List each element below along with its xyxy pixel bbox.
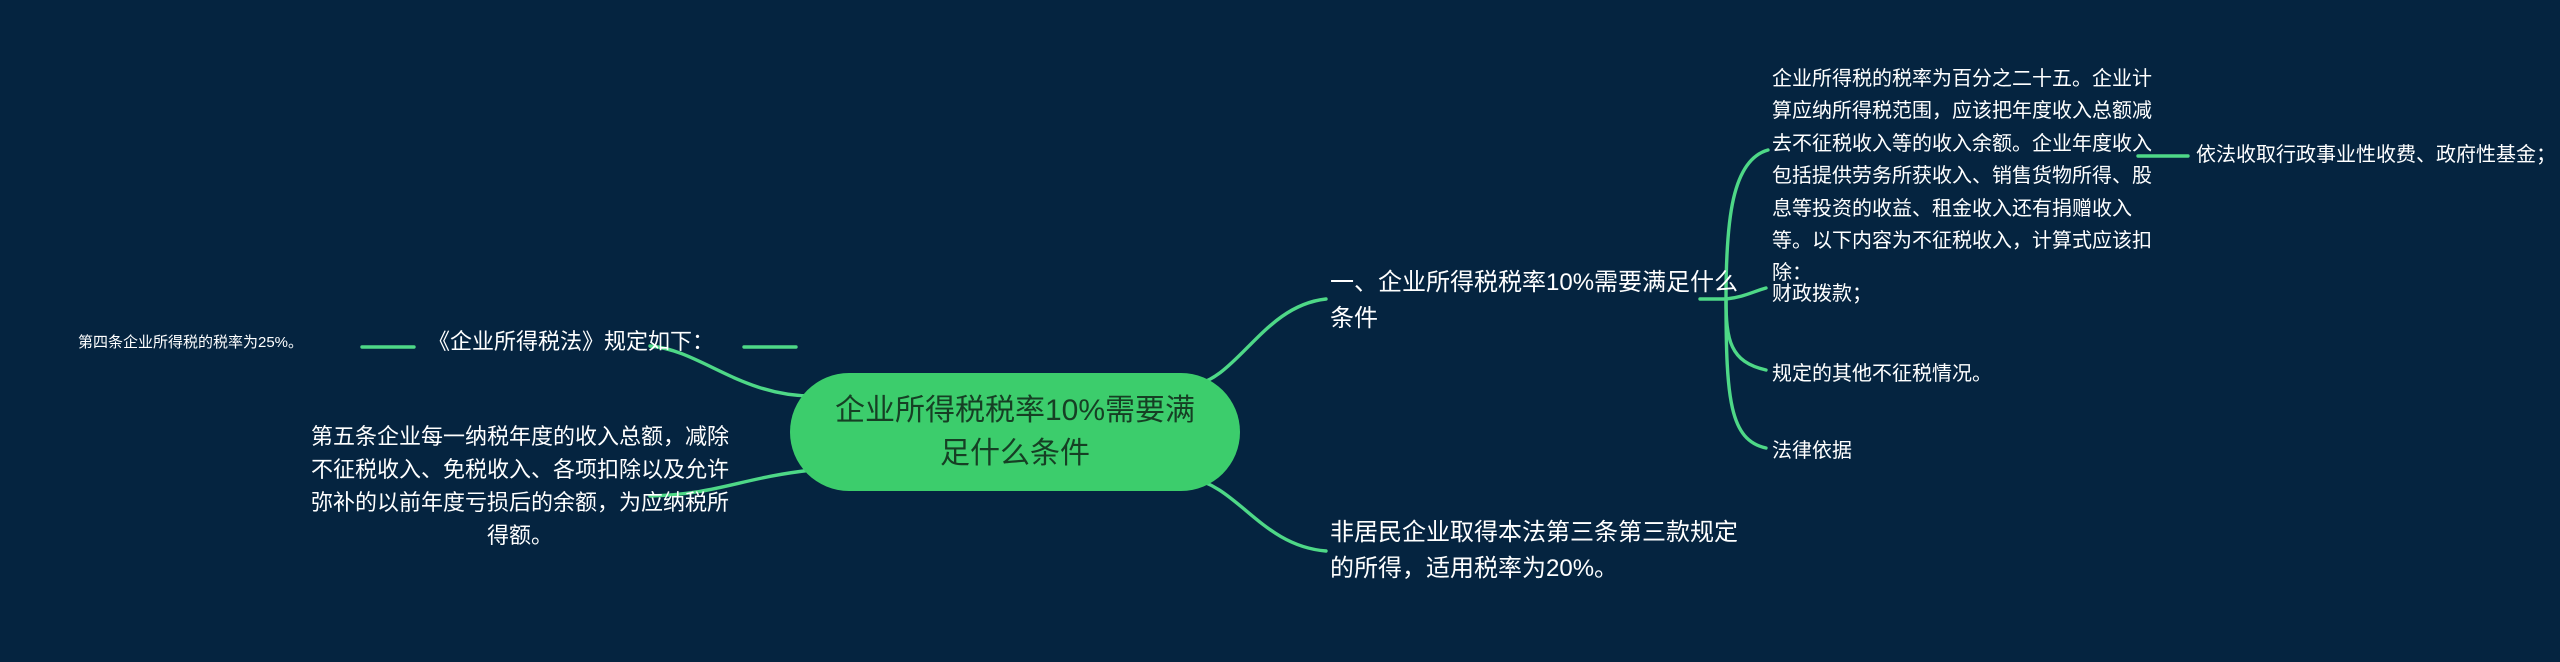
root-node[interactable]: 企业所得税税率10%需要满足什么条件 <box>790 373 1240 491</box>
connector-layer <box>0 0 2560 662</box>
left-level1-node[interactable]: 《企业所得税法》规定如下： <box>428 326 758 358</box>
link-root-right-branch2 <box>1190 478 1326 551</box>
right-branch1-node[interactable]: 一、企业所得税税率10%需要满足什么条件 <box>1330 265 1750 337</box>
link-root-right-branch1 <box>1190 299 1326 386</box>
right-branch1-child-legal-basis[interactable]: 法律依据 <box>1772 437 2072 466</box>
mindmap-canvas: 第四条企业所得税的税率为25%。 《企业所得税法》规定如下： 第五条企业每一纳税… <box>0 0 2560 662</box>
right-branch2-node[interactable]: 非居民企业取得本法第三条第三款规定的所得，适用税率为20%。 <box>1330 515 1750 587</box>
root-node-label: 企业所得税税率10%需要满足什么条件 <box>824 389 1206 476</box>
left-far-label[interactable]: 第四条企业所得税的税率为25%。 <box>78 332 378 354</box>
right-branch1-child-other-nontax[interactable]: 规定的其他不征税情况。 <box>1772 360 2132 389</box>
right-branch1-paragraph-child-fees[interactable]: 依法收取行政事业性收费、政府性基金； <box>2196 140 2556 170</box>
right-branch1-child-paragraph[interactable]: 企业所得税的税率为百分之二十五。企业计算应纳所得税范围，应该把年度收入总额减去不… <box>1772 63 2152 290</box>
left-level2-node[interactable]: 第五条企业每一纳税年度的收入总额，减除不征税收入、免税收入、各项扣除以及允许弥补… <box>310 420 730 552</box>
right-branch1-child-fiscal-allocation[interactable]: 财政拨款； <box>1772 280 2112 309</box>
